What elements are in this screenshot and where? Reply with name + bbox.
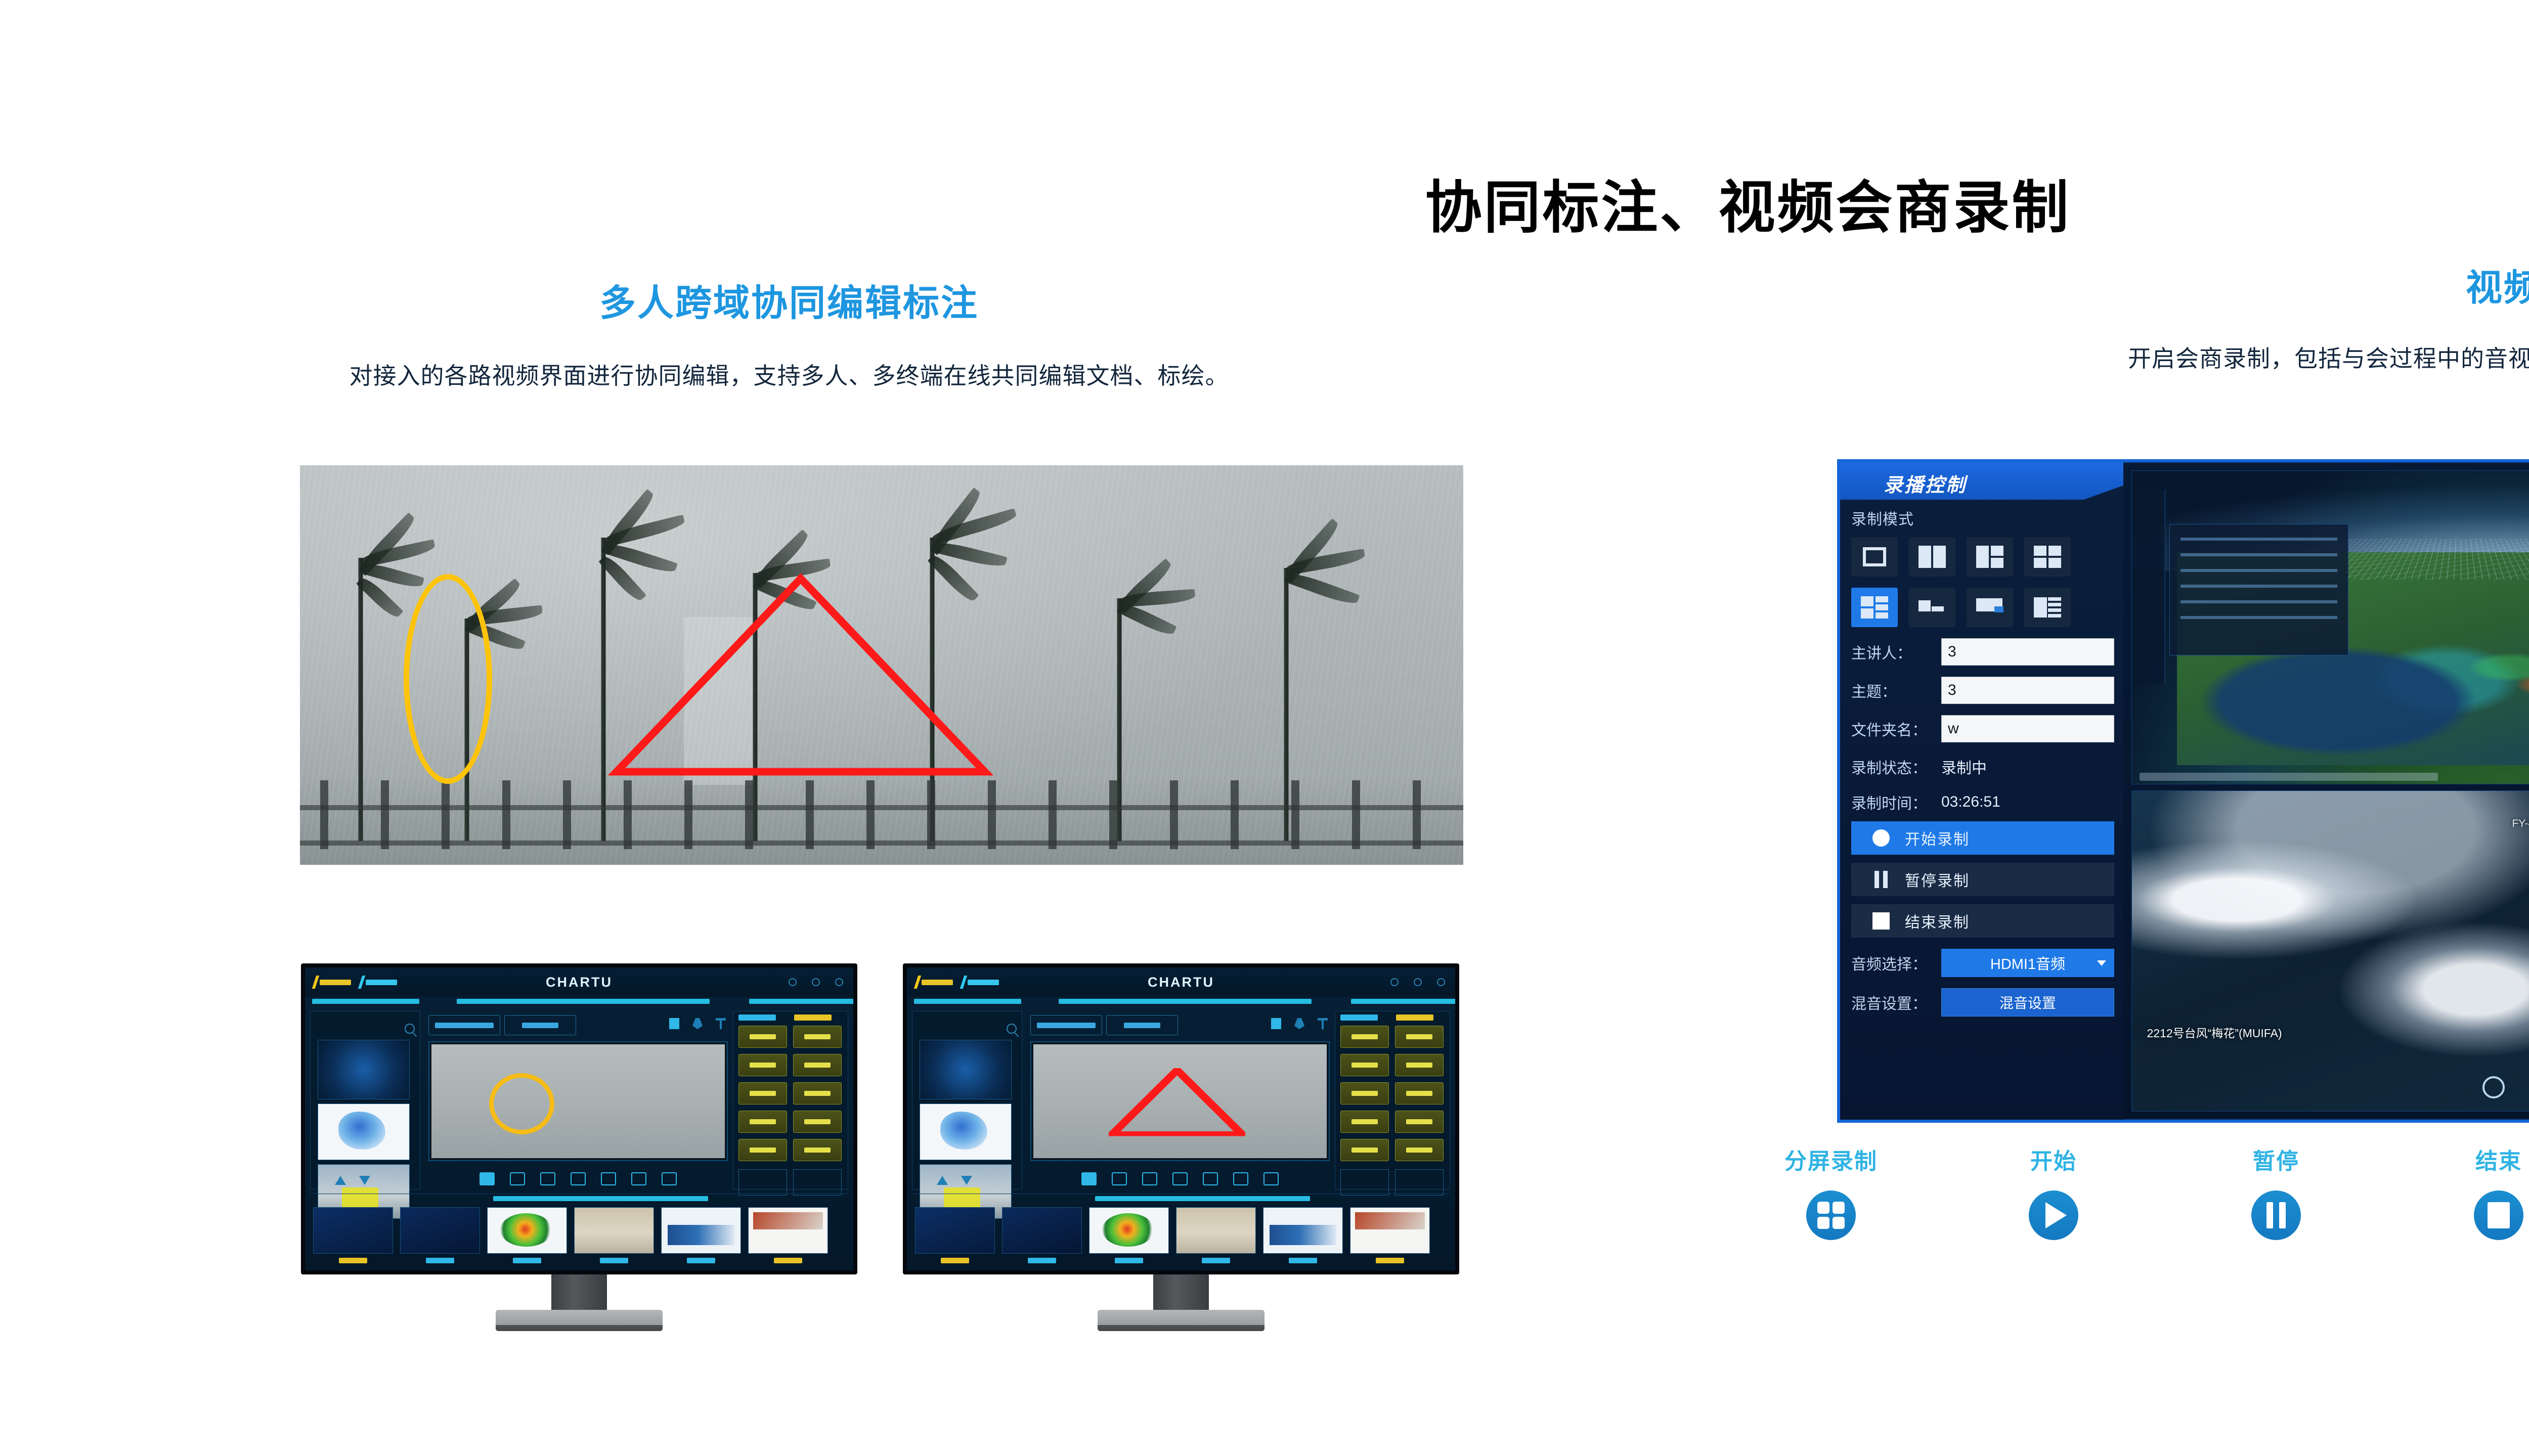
asset-sidebar[interactable]: [310, 1011, 420, 1189]
search-icon[interactable]: [1007, 1024, 1017, 1034]
stop-record-button[interactable]: 结束录制: [1851, 904, 2114, 938]
pen-tool-icon: [1294, 1018, 1304, 1029]
app-title: CHARTU: [1148, 975, 1214, 990]
panel-title-bar: [1840, 462, 2123, 500]
action-stop-label: 结束: [2387, 1143, 2529, 1175]
filmstrip[interactable]: [912, 1194, 1450, 1267]
video-wall-main-column: 2212号台风“梅花”(MUIFA) 2213号台风“南玛都”(MERBOK) …: [2131, 470, 2529, 1112]
start-record-button[interactable]: 开始录制: [1851, 821, 2114, 855]
slide-root: 协同标注、视频会商录制 多人跨域协同编辑标注 对接入的各路视频界面进行协同编辑，…: [0, 0, 2529, 1456]
mode-quad[interactable]: [2024, 537, 2071, 577]
nav-tab-2[interactable]: [360, 976, 397, 989]
text-tool-icon: [1318, 1018, 1328, 1029]
collab-monitor-1: CHARTU: [301, 963, 857, 1274]
canvas-stage[interactable]: [428, 1041, 728, 1161]
toolbar-chip-1[interactable]: [1030, 1015, 1102, 1035]
speaker-field-row: 主讲人： 3: [1851, 638, 2114, 666]
preset-panel[interactable]: [1335, 1011, 1450, 1189]
layout-mode-icon: [1203, 1172, 1218, 1185]
layout-mode-bar[interactable]: [425, 1172, 731, 1185]
monitor-stand-base: [496, 1310, 663, 1331]
pause-icon: [1872, 871, 1890, 888]
mixer-button[interactable]: 混音设置: [1941, 988, 2114, 1017]
topic-input[interactable]: 3: [1941, 677, 2114, 704]
layout-mode-icon: [479, 1172, 495, 1185]
mixer-label: 混音设置：: [1851, 991, 1941, 1013]
delete-icon: [662, 1172, 677, 1185]
layout-mode-icon: [631, 1172, 646, 1185]
sidebar-thumbnail[interactable]: [920, 1104, 1012, 1160]
wall-cell-radar-3d-globe-view[interactable]: [2131, 470, 2529, 784]
text-tool-icon: [716, 1018, 726, 1029]
right-column: 视频会商录制 开启会商录制，包括与会过程中的音视频的录制，还包含批注、绘制等开会…: [1720, 273, 2529, 374]
chevron-down-icon: [2097, 960, 2106, 966]
nav-tab-1[interactable]: [314, 976, 351, 989]
record-dot-icon: [1872, 829, 1890, 847]
record-status-label: 录制状态：: [1851, 756, 1941, 778]
canvas-ellipse-annotation-icon: [489, 1073, 554, 1134]
layout-mode-icon: [571, 1172, 586, 1185]
mixer-row: 混音设置： 混音设置: [1851, 988, 2114, 1017]
canvas-stage[interactable]: [1030, 1041, 1330, 1161]
left-column: 多人跨域协同编辑标注 对接入的各路视频界面进行协同编辑，支持多人、多终端在线共同…: [61, 273, 1517, 391]
action-split-record[interactable]: 分屏录制: [1720, 1143, 1942, 1240]
app-title: CHARTU: [546, 975, 613, 990]
recording-console: 录播控制 录制模式: [1837, 459, 2529, 1123]
start-record-label: 开始录制: [1905, 827, 1970, 849]
pen-tool-icon: [692, 1018, 703, 1029]
canvas-photo: [431, 1044, 725, 1158]
sidebar-thumbnail[interactable]: [318, 1040, 410, 1099]
sidebar-scroll-controls[interactable]: [937, 1176, 972, 1185]
preset-panel[interactable]: [733, 1011, 848, 1189]
record-duration-row: 录制时间： 03:26:51: [1851, 791, 2114, 813]
toolbar-chip-2[interactable]: [504, 1015, 576, 1035]
satellite-source-label: FY-4B气象卫星监测图像 2022年9月13日07时（北京时间）: [2512, 817, 2529, 831]
mixer-button-label: 混音设置: [1999, 992, 2056, 1012]
pause-record-label: 暂停录制: [1905, 868, 1970, 891]
record-status-row: 录制状态： 录制中: [1851, 756, 2114, 778]
recording-action-buttons: 分屏录制 开始 暂停 结束: [1720, 1143, 2529, 1240]
window-controls[interactable]: [789, 978, 843, 986]
mode-one-plus-list[interactable]: [2024, 588, 2071, 627]
audio-select-value: HDMI1音频: [1990, 952, 2065, 974]
stop-record-label: 结束录制: [1905, 910, 1970, 932]
sidebar-thumbnail[interactable]: [920, 1040, 1012, 1099]
layout-mode-icon: [540, 1172, 555, 1185]
divider-bars: [305, 999, 853, 1006]
pause-icon[interactable]: [2251, 1190, 2301, 1240]
monitor-screen: CHARTU: [301, 963, 857, 1274]
pause-record-button[interactable]: 暂停录制: [1851, 863, 2114, 896]
monitor-stand-neck: [1153, 1274, 1209, 1310]
monitor-screen: CHARTU: [903, 963, 1459, 1274]
collab-monitor-2: CHARTU: [903, 963, 1459, 1274]
layout-mode-icon: [1081, 1172, 1097, 1185]
folder-label: 文件夹名：: [1851, 718, 1941, 740]
window-controls[interactable]: [1390, 978, 1445, 986]
panel-title: 录播控制: [1884, 469, 1967, 497]
left-section-heading: 多人跨域协同编辑标注: [61, 273, 1517, 326]
divider-bars: [907, 999, 1455, 1006]
record-duration-value: 03:26:51: [1941, 793, 2000, 811]
action-split-record-label: 分屏录制: [1720, 1143, 1942, 1175]
record-mode-grid[interactable]: [1851, 537, 2114, 627]
collab-annotation-photo: [300, 465, 1463, 865]
annotation-tools[interactable]: [1271, 1018, 1328, 1029]
sidebar-thumbnail[interactable]: [318, 1104, 410, 1160]
agency-logo-icon: [2482, 1076, 2505, 1098]
filmstrip[interactable]: [310, 1194, 848, 1267]
canvas-area: [1027, 1011, 1333, 1189]
mode-one-plus-two[interactable]: [1967, 537, 2013, 577]
mode-two-plus-four[interactable]: [1851, 588, 1898, 627]
right-section-description: 开启会商录制，包括与会过程中的音视频的录制，还包含批注、绘制等开会过程视频。: [1720, 340, 2529, 374]
annotation-ellipse-icon: [404, 574, 492, 784]
image-tool-icon: [1271, 1018, 1281, 1029]
topic-label: 主题：: [1851, 679, 1941, 701]
action-start[interactable]: 开始: [1942, 1143, 2165, 1240]
mode-pip-bottom-right[interactable]: [1967, 588, 2013, 627]
layout-mode-icon: [510, 1172, 525, 1185]
action-stop[interactable]: 结束: [2387, 1143, 2529, 1240]
layout-mode-bar[interactable]: [1027, 1172, 1333, 1185]
record-mode-label: 录制模式: [1851, 507, 2114, 529]
layout-mode-icon: [1142, 1172, 1157, 1185]
topic-field-row: 主题： 3: [1851, 677, 2114, 704]
speaker-label: 主讲人：: [1851, 641, 1941, 663]
record-status-value: 录制中: [1941, 756, 1987, 778]
annotation-tools[interactable]: [669, 1018, 726, 1029]
typhoon-label-left: 2212号台风“梅花”(MUIFA): [2147, 1024, 2282, 1041]
mode-pip-bottom-left[interactable]: [1909, 588, 1955, 627]
canvas-triangle-annotation-icon: [1109, 1068, 1245, 1136]
annotation-triangle-icon: [608, 571, 993, 779]
video-wall: 2212号台风“梅花”(MUIFA) 2213号台风“南玛都”(MERBOK) …: [2123, 462, 2529, 1120]
canvas-area: [425, 1011, 731, 1189]
left-section-description: 对接入的各路视频界面进行协同编辑，支持多人、多终端在线共同编辑文档、标绘。: [61, 358, 1517, 391]
stop-icon[interactable]: [2474, 1190, 2523, 1240]
action-pause[interactable]: 暂停: [2165, 1143, 2387, 1240]
right-section-heading: 视频会商录制: [1720, 258, 2529, 311]
delete-icon: [1263, 1172, 1279, 1185]
wall-cell-typhoon-satellite-view[interactable]: 2212号台风“梅花”(MUIFA) 2213号台风“南玛都”(MERBOK) …: [2131, 790, 2529, 1112]
mode-two-vertical[interactable]: [1909, 537, 1955, 577]
search-icon[interactable]: [405, 1024, 415, 1034]
asset-sidebar[interactable]: [912, 1011, 1022, 1189]
nav-tab-2[interactable]: [962, 976, 999, 989]
folder-field-row: 文件夹名： w: [1851, 715, 2114, 742]
layout-mode-icon: [1112, 1172, 1127, 1185]
record-duration-label: 录制时间：: [1851, 791, 1941, 813]
play-icon[interactable]: [2029, 1190, 2078, 1240]
audio-select-row: 音频选择： HDMI1音频: [1851, 949, 2114, 977]
monitor-stand-base: [1098, 1310, 1264, 1331]
toolbar-chip-1[interactable]: [428, 1015, 500, 1035]
recording-control-panel: 录播控制 录制模式: [1840, 462, 2123, 1120]
mode-single[interactable]: [1851, 537, 1898, 577]
action-pause-label: 暂停: [2165, 1143, 2387, 1175]
page-title: 协同标注、视频会商录制: [0, 162, 2529, 244]
layout-mode-icon: [1233, 1172, 1248, 1185]
audio-select-label: 音频选择：: [1851, 952, 1941, 974]
photo-fence: [300, 777, 1463, 865]
app-header: CHARTU: [907, 967, 1455, 997]
image-tool-icon: [669, 1018, 679, 1029]
audio-select-dropdown[interactable]: HDMI1音频: [1941, 949, 2114, 977]
nav-tab-1[interactable]: [916, 976, 953, 989]
grid-icon[interactable]: [1806, 1190, 1856, 1240]
action-start-label: 开始: [1942, 1143, 2165, 1175]
folder-input[interactable]: w: [1941, 715, 2114, 742]
layout-mode-icon: [1172, 1172, 1188, 1185]
app-header: CHARTU: [305, 967, 853, 997]
toolbar-chip-2[interactable]: [1106, 1015, 1178, 1035]
stop-icon: [1872, 912, 1890, 930]
layout-mode-icon: [601, 1172, 616, 1185]
speaker-input[interactable]: 3: [1941, 638, 2114, 666]
sidebar-scroll-controls[interactable]: [335, 1176, 370, 1185]
monitor-stand-neck: [551, 1274, 607, 1310]
